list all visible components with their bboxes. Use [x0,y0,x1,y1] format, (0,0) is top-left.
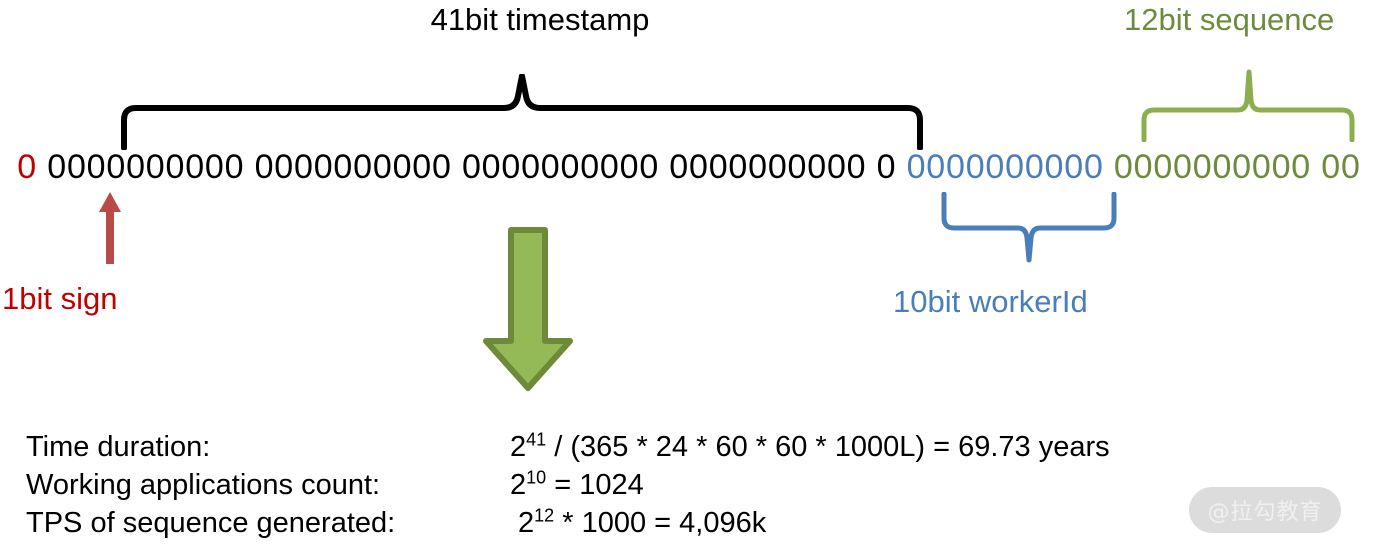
worker-brace [940,192,1118,264]
summary-label: Working applications count: [26,466,510,504]
summary-base: 2 [510,469,526,501]
worker-id-label: 10bit workerId [893,286,1088,317]
summary-base: 2 [518,507,534,539]
watermark-badge: @拉勾教育 [1189,487,1341,533]
summary-row: TPS of sequence generated: 212 * 1000 = … [26,504,1356,542]
summary-base: 2 [510,431,526,463]
bits-timestamp-segment: 0000000000 0000000000 0000000000 0000000… [37,148,896,186]
watermark-text: @拉勾教育 [1207,494,1322,526]
summary-value: 241 / (365 * 24 * 60 * 60 * 1000L) = 69.… [510,428,1356,466]
summary-exponent: 12 [534,505,554,525]
summary-label: TPS of sequence generated: [26,504,510,542]
sequence-brace [1140,66,1356,142]
bits-sequence-segment: 0000000000 00 [1104,148,1361,186]
timestamp-brace [118,74,926,150]
sign-bit-arrow-icon [94,190,126,271]
summary-expression: * 1000 = 4,096k [554,507,766,539]
sequence-segment-label: 12bit sequence [1124,4,1334,35]
flow-down-arrow-icon [482,226,574,397]
bits-sign-segment: 0 [17,148,37,186]
summary-row: Time duration: 241 / (365 * 24 * 60 * 60… [26,428,1356,466]
summary-label: Time duration: [26,428,510,466]
bit-string: 0 0000000000 0000000000 0000000000 00000… [0,146,1378,188]
bits-worker-segment: 0000000000 [896,148,1103,186]
summary-row: Working applications count: 210 = 1024 [26,466,1356,504]
summary-block: Time duration: 241 / (365 * 24 * 60 * 60… [26,428,1356,542]
summary-exponent: 10 [526,467,546,487]
summary-expression: / (365 * 24 * 60 * 60 * 1000L) = 69.73 y… [546,431,1109,463]
summary-expression: = 1024 [546,469,644,501]
summary-exponent: 41 [526,429,546,449]
timestamp-segment-label: 41bit timestamp [0,4,1080,35]
sign-bit-label: 1bit sign [2,283,117,314]
